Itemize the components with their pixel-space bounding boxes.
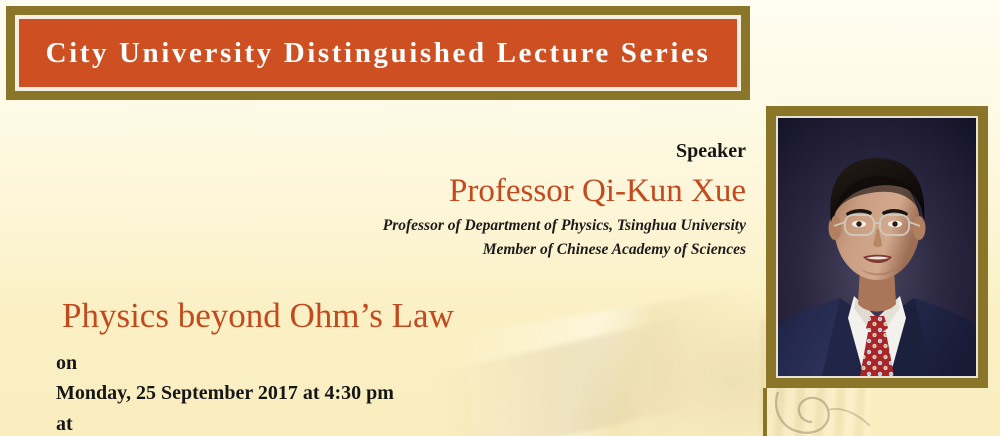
speaker-block: Speaker Professor Qi-Kun Xue Professor o…	[300, 140, 746, 260]
swirl-ornament	[770, 382, 920, 436]
speaker-name: Professor Qi-Kun Xue	[300, 170, 746, 213]
speaker-portrait-photo	[778, 118, 976, 376]
lecture-datetime: Monday, 25 September 2017 at 4:30 pm	[56, 378, 616, 408]
on-label: on	[56, 348, 616, 378]
speaker-affiliation-line-1: Professor of Department of Physics, Tsin…	[300, 216, 746, 237]
lecture-title: Physics beyond Ohm’s Law	[62, 298, 454, 333]
at-label: at	[56, 409, 616, 436]
header-banner: City University Distinguished Lecture Se…	[6, 6, 750, 100]
lecture-details: on Monday, 25 September 2017 at 4:30 pm …	[56, 348, 616, 436]
portrait-frame	[766, 106, 988, 388]
speaker-label: Speaker	[300, 140, 746, 162]
portrait-mat	[776, 116, 978, 378]
banner-title: City University Distinguished Lecture Se…	[46, 39, 711, 68]
header-banner-inner: City University Distinguished Lecture Se…	[15, 15, 741, 91]
lecture-poster: City University Distinguished Lecture Se…	[0, 0, 1000, 436]
speaker-affiliation-line-2: Member of Chinese Academy of Sciences	[300, 240, 746, 261]
gold-vertical-rule	[763, 388, 767, 436]
